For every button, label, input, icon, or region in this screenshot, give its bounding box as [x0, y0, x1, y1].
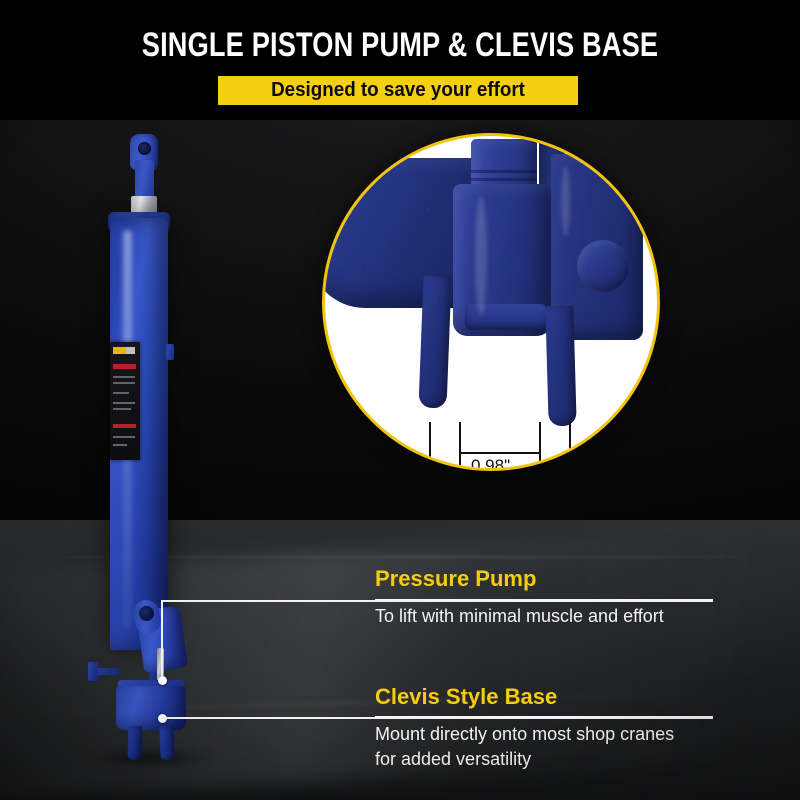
- label-text-line: [113, 382, 135, 384]
- callout-title-pressure-pump: Pressure Pump: [375, 566, 536, 592]
- callout-leader-vertical: [161, 600, 163, 680]
- clevis-foot-right: [159, 726, 174, 760]
- dim-extension-left-outer: [429, 422, 431, 471]
- label-text-line: [113, 408, 131, 410]
- label-warning-bar: [113, 364, 136, 369]
- specular-highlight: [475, 196, 487, 316]
- product-feature-graphic: SINGLE PISTON PUMP & CLEVIS BASE Designe…: [0, 0, 800, 800]
- callout-desc-line2: for added versatility: [375, 747, 710, 772]
- callout-title-clevis-base: Clevis Style Base: [375, 684, 557, 710]
- thread-groove: [471, 178, 537, 181]
- label-text-line: [113, 444, 127, 446]
- callout-rule-pressure-pump: [375, 599, 713, 601]
- label-text-line: [113, 436, 135, 438]
- clevis-foot-left: [127, 726, 142, 760]
- product-drop-shadow: [86, 748, 216, 768]
- product-warning-label: [110, 342, 140, 460]
- label-warning-bar: [113, 424, 136, 428]
- release-valve-stem: [96, 668, 120, 675]
- callout-desc-clevis-base: Mount directly onto most shop cranes for…: [375, 722, 710, 772]
- label-text-line: [113, 402, 135, 404]
- clevis-prong-left: [418, 276, 451, 409]
- dim-extension-right-outer: [569, 422, 571, 471]
- dim-extension-left-inner: [459, 422, 461, 471]
- label-brand-mark: [113, 347, 135, 354]
- clevis-prong-right: [545, 306, 576, 427]
- specular-highlight: [561, 166, 570, 236]
- dim-label-center: 0.98": [471, 456, 510, 471]
- label-text-line: [113, 376, 135, 378]
- clevis-base-block: [116, 686, 186, 730]
- closeup-circle-inset: 0.4" 0.98" 0.4": [322, 133, 660, 471]
- callout-rule-clevis-base: [375, 716, 713, 718]
- dim-line-center: [459, 452, 541, 454]
- casting-round-boss: [577, 240, 629, 292]
- label-text-line: [113, 392, 129, 394]
- callout-desc-line1: Mount directly onto most shop cranes: [375, 722, 710, 747]
- page-title: SINGLE PISTON PUMP & CLEVIS BASE: [80, 26, 720, 65]
- clevis-eye-hole: [138, 142, 151, 155]
- callout-desc-pressure-pump: To lift with minimal muscle and effort: [375, 604, 725, 629]
- release-valve-knob[interactable]: [88, 662, 98, 681]
- cylinder-side-fitting: [166, 344, 174, 360]
- dim-extension-right-inner: [539, 422, 541, 471]
- subtitle-text: Designed to save your effort: [229, 76, 567, 105]
- thread-groove: [471, 170, 537, 173]
